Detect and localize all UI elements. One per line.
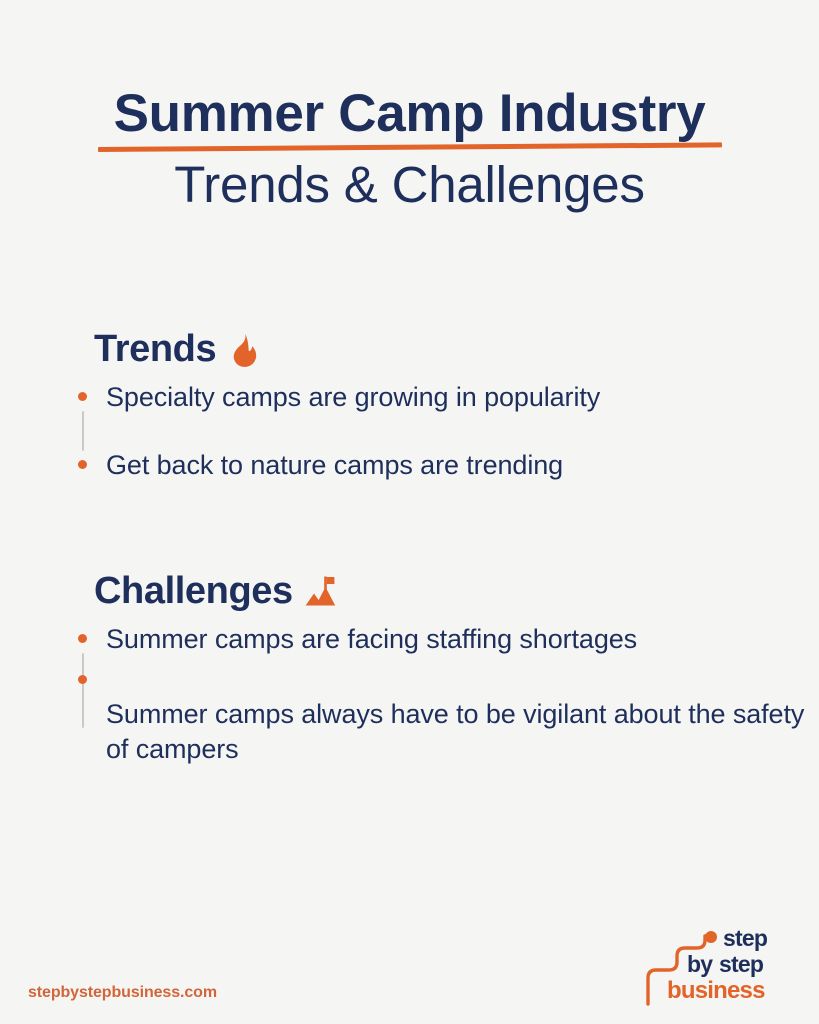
list-item: Summer camps always have to be vigilant … [72,697,812,768]
page-subtitle: Trends & Challenges [0,157,819,213]
list-item-text: Specialty camps are growing in popularit… [106,380,812,416]
list-item: Specialty camps are growing in popularit… [72,380,812,416]
section-challenges-title: Challenges [94,570,293,613]
title-underline-accent [98,143,722,153]
bullet-dot-icon [78,634,87,643]
bullet-dot-icon [78,675,87,684]
infographic-canvas: Summer Camp Industry Trends & Challenges… [0,0,819,1024]
bullet-dot-icon [78,460,87,469]
flame-icon [227,331,261,369]
list-item-text: Summer camps are facing staffing shortag… [106,622,812,658]
svg-text:step: step [723,926,768,951]
list-item: Get back to nature camps are trending [72,448,812,484]
svg-text:business: business [667,977,765,1004]
trends-bullet-list: Specialty camps are growing in popularit… [72,380,812,483]
title-main-wrapper: Summer Camp Industry [112,84,708,143]
svg-text:by: by [687,951,713,977]
list-item-text: Get back to nature camps are trending [106,448,812,484]
list-item-text: Summer camps always have to be vigilant … [106,697,812,768]
section-trends-heading: Trends [94,328,812,371]
step-by-step-business-logo[interactable]: step by step business [645,926,793,1008]
mountain-flag-icon [304,573,338,611]
bullet-connector-line [82,411,84,451]
page-title: Summer Camp Industry [114,84,706,143]
title-block: Summer Camp Industry Trends & Challenges [0,84,819,213]
challenges-bullet-list: Summer camps are facing staffing shortag… [72,622,812,768]
website-url[interactable]: stepbystepbusiness.com [28,984,217,1002]
section-challenges: Challenges Summer camps are facing staff… [72,570,812,768]
section-challenges-heading: Challenges [94,570,812,613]
section-trends-title: Trends [94,328,216,371]
section-trends: Trends Specialty camps are growing in po… [72,328,812,483]
svg-text:step: step [719,951,764,977]
list-item: Summer camps are facing staffing shortag… [72,622,812,658]
bullet-dot-icon [78,392,87,401]
